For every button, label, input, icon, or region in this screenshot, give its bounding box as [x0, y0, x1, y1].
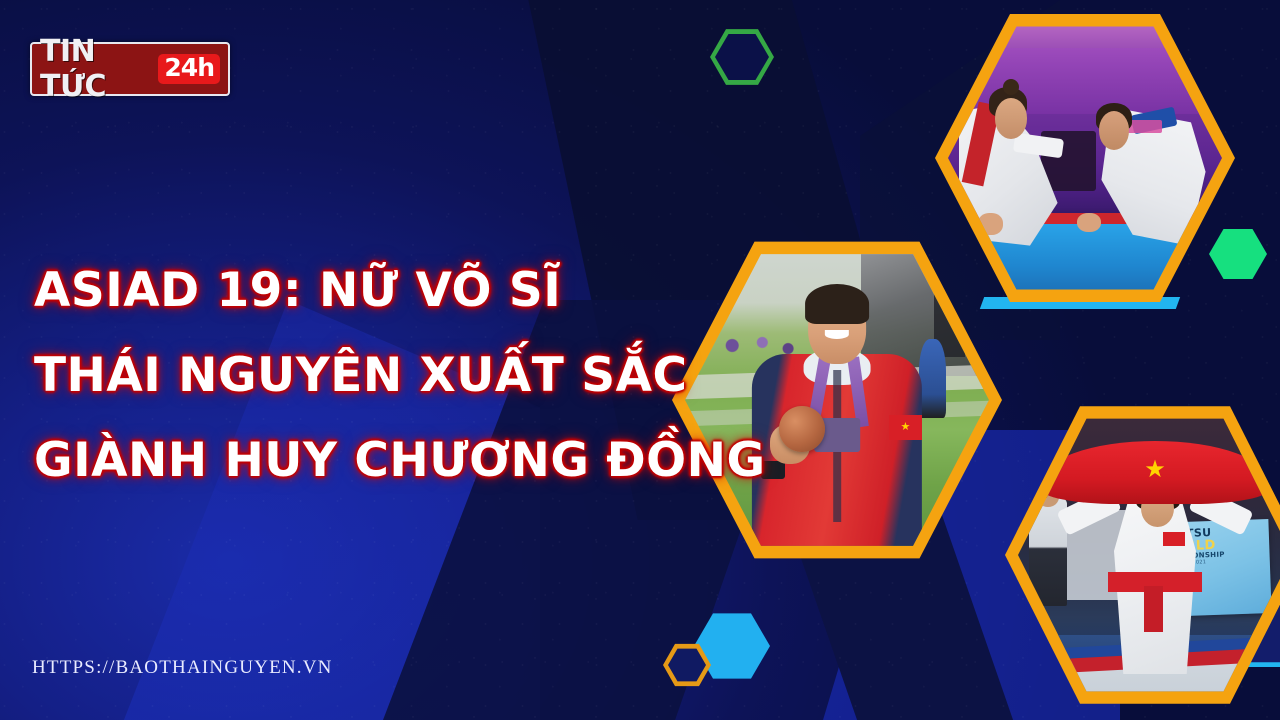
orange-hexagon-outline-icon [663, 643, 711, 687]
headline-line-1: ASIAD 19: NỮ VÕ SĨ [34, 248, 794, 333]
vietnam-flag-star-icon: ★ [1144, 458, 1166, 482]
headline-line-2: THÁI NGUYÊN XUẤT SẮC [34, 333, 794, 418]
green-hexagon-filled-icon [1209, 228, 1267, 280]
photo-image-flag-celebration: JU-JITSU WORLD CHAMPIONSHIP ABU DHABI 20… [1018, 413, 1280, 697]
green-hexagon-outline-icon [710, 28, 774, 86]
headline-line-3: GIÀNH HUY CHƯƠNG ĐỒNG [34, 418, 794, 503]
photo-clip-jujitsu-match [948, 21, 1222, 295]
headline-block: ASIAD 19: NỮ VÕ SĨ THÁI NGUYÊN XUẤT SẮC … [34, 248, 794, 503]
logo-wordmark: TIN TỨC [40, 34, 158, 104]
photo-hexagon-flag-celebration[interactable]: JU-JITSU WORLD CHAMPIONSHIP ABU DHABI 20… [1005, 400, 1280, 710]
vietnam-flag-patch: ★ [889, 415, 922, 439]
poster-canvas: TIN TỨC 24h [0, 0, 1280, 720]
vietnam-flag-patch-star-icon: ★ [900, 422, 910, 433]
source-website-url[interactable]: HTTPS://BAOTHAINGUYEN.VN [32, 657, 333, 679]
logo-24h-badge: 24h [158, 54, 220, 83]
photo-hexagon-jujitsu-match[interactable] [935, 8, 1235, 308]
photo-clip-flag-celebration: JU-JITSU WORLD CHAMPIONSHIP ABU DHABI 20… [1018, 413, 1280, 697]
tin-tuc-24h-logo[interactable]: TIN TỨC 24h [30, 42, 230, 96]
photo-image-jujitsu-match [948, 21, 1222, 295]
